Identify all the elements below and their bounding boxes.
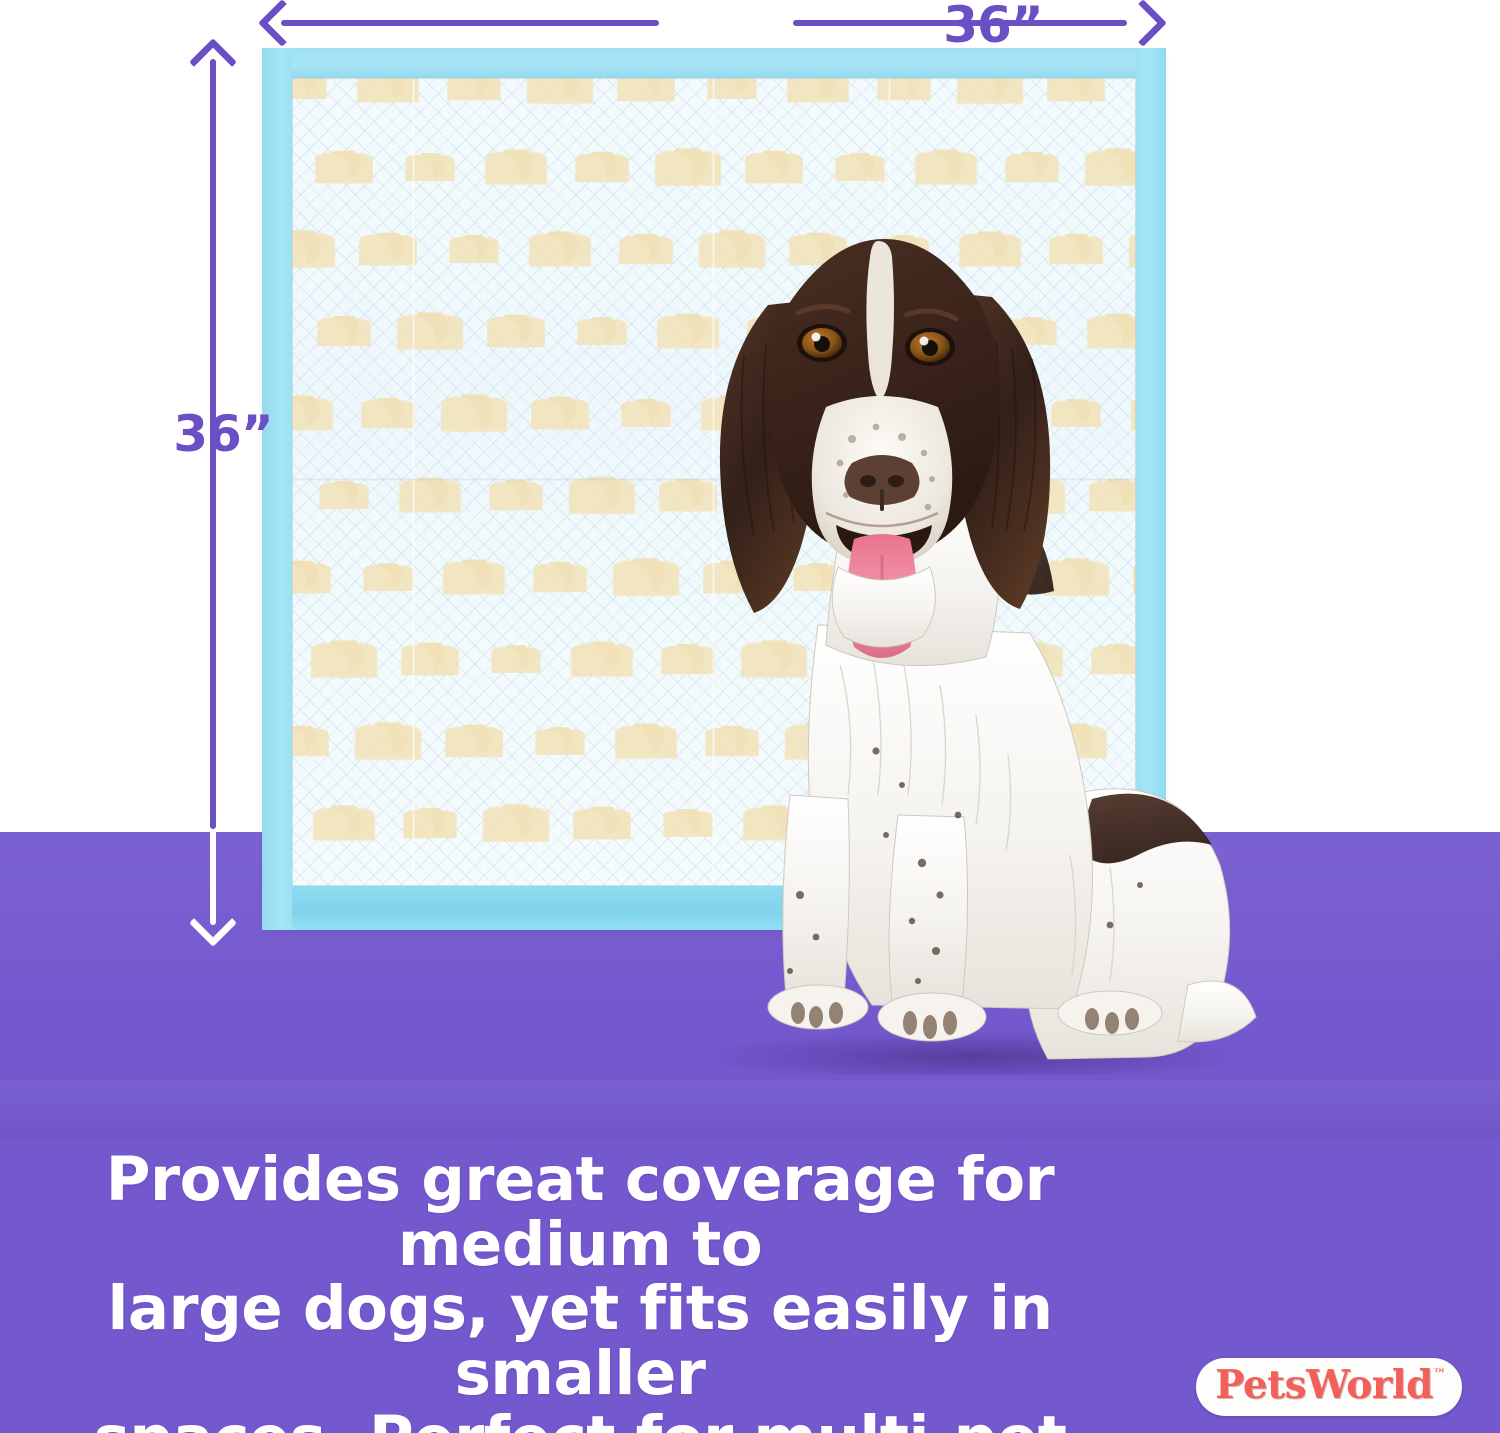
cloud-motif <box>292 561 331 594</box>
cloud-motif <box>571 641 633 676</box>
cloud-motif <box>313 805 375 840</box>
cloud-motif <box>531 397 589 430</box>
cloud-motif <box>397 312 463 349</box>
height-dimension-arrow <box>210 45 216 940</box>
cloud-motif <box>487 315 545 348</box>
cloud-motif <box>787 78 849 103</box>
cloud-motif <box>1085 148 1136 185</box>
cloud-motif <box>441 394 507 431</box>
marketing-caption: Provides great coverage for medium to la… <box>0 1148 1160 1433</box>
cloud-motif <box>363 563 412 591</box>
cloud-motif <box>483 804 549 841</box>
cloud-motif <box>399 477 461 512</box>
cloud-motif <box>292 230 335 267</box>
arrow-line-left-segment <box>281 20 659 26</box>
brand-logo: PetsWorld ™ <box>1196 1358 1462 1416</box>
cloud-motif <box>745 151 803 184</box>
pad-edge-left <box>262 48 292 930</box>
brand-name: PetsWorld <box>1215 1362 1433 1408</box>
cloud-motif <box>292 78 327 99</box>
cloud-motif <box>449 235 498 263</box>
arrow-right-head-icon <box>1119 0 1167 47</box>
cloud-motif <box>1005 152 1058 182</box>
width-dimension-arrow: 36” <box>265 20 1160 22</box>
cloud-motif <box>577 317 626 345</box>
cloud-motif <box>535 727 584 755</box>
cloud-motif <box>292 395 333 430</box>
cloud-motif <box>957 78 1023 104</box>
cloud-motif <box>527 78 593 104</box>
cloud-motif <box>485 149 547 184</box>
cloud-motif <box>443 559 505 594</box>
cloud-motif <box>401 643 459 676</box>
springer-spaniel-dog <box>640 195 1260 1075</box>
cloud-motif <box>317 316 370 346</box>
cloud-motif <box>491 645 540 673</box>
cloud-motif <box>315 151 373 184</box>
cloud-motif <box>311 640 377 677</box>
cloud-motif <box>359 233 417 266</box>
cloud-motif <box>835 153 884 181</box>
height-dimension-label: 36” <box>168 405 278 463</box>
cloud-motif <box>319 481 368 509</box>
width-dimension-label: 36” <box>933 0 1053 54</box>
pad-fold-line <box>412 78 415 886</box>
cloud-motif <box>489 480 542 510</box>
cloud-motif <box>1047 78 1105 101</box>
cloud-motif <box>617 78 675 101</box>
cloud-motif <box>575 152 628 182</box>
cloud-motif <box>447 78 500 100</box>
cloud-motif <box>915 149 977 184</box>
cloud-motif <box>445 725 503 758</box>
cloud-motif <box>877 78 930 100</box>
cloud-motif <box>361 398 414 428</box>
cloud-motif <box>533 562 586 592</box>
cloud-motif <box>573 807 631 840</box>
caption-line-2: large dogs, yet fits easily in smaller <box>0 1277 1160 1406</box>
cloud-motif <box>569 476 635 513</box>
banner-floor-gradient <box>0 1080 1500 1140</box>
cloud-motif <box>357 78 419 103</box>
cloud-motif <box>529 231 591 266</box>
cloud-motif <box>292 726 329 756</box>
caption-line-3: spaces. Perfect for multi-pet setups. <box>0 1407 1160 1433</box>
caption-line-1: Provides great coverage for medium to <box>0 1148 1160 1277</box>
trademark-symbol: ™ <box>1433 1367 1446 1382</box>
product-marketing-image: 36” 36” Provides great coverage for medi… <box>0 0 1500 1433</box>
